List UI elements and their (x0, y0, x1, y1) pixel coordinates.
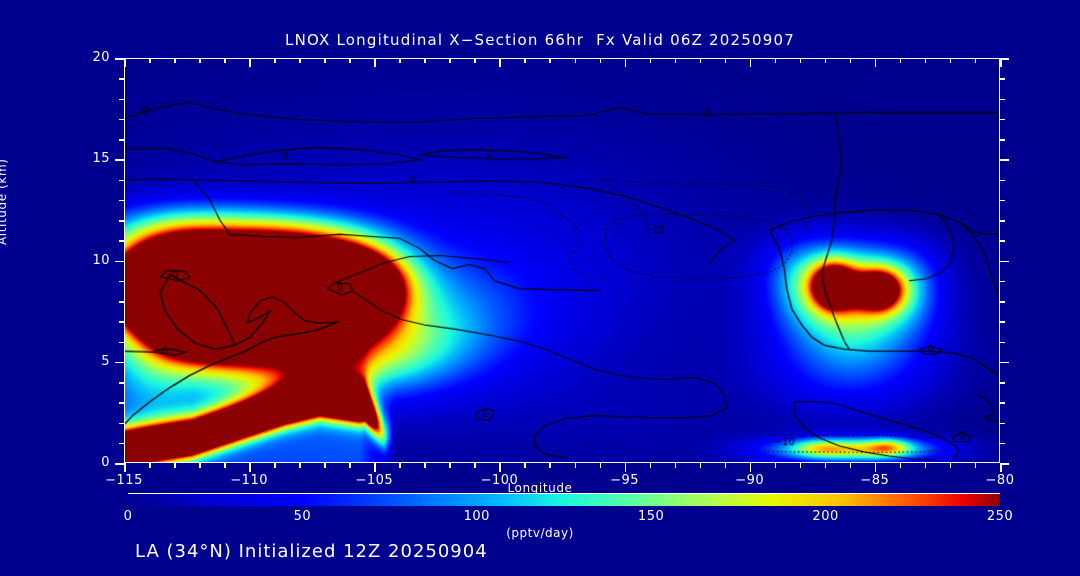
x-top-tick (625, 58, 627, 67)
y-right-tick (1000, 159, 1009, 161)
x-major-tick (499, 463, 501, 472)
y-minor-tick (119, 180, 124, 182)
x-minor-tick (174, 463, 176, 468)
colorbar-tick-label: 50 (262, 509, 342, 524)
y-right-tick (1000, 78, 1005, 80)
x-top-tick (875, 58, 877, 67)
colorbar[interactable] (128, 493, 1000, 506)
x-top-tick (324, 58, 326, 63)
y-right-tick (1000, 362, 1009, 364)
x-top-tick (575, 58, 577, 63)
x-major-tick (875, 463, 877, 472)
x-major-tick (124, 463, 126, 472)
x-top-tick (149, 58, 151, 63)
x-top-tick (224, 58, 226, 63)
colorbar-tick-label: 200 (786, 509, 866, 524)
x-top-tick (349, 58, 351, 63)
x-minor-tick (950, 463, 952, 468)
x-minor-tick (725, 463, 727, 468)
heatmap-canvas (125, 59, 999, 462)
y-right-tick (1000, 220, 1005, 222)
y-minor-tick (119, 240, 124, 242)
y-major-tick (115, 463, 124, 465)
y-minor-tick (119, 382, 124, 384)
y-minor-tick (119, 220, 124, 222)
x-minor-tick (600, 463, 602, 468)
colorbar-tick-label: 100 (437, 509, 517, 524)
y-right-tick (1000, 281, 1005, 283)
y-minor-tick (119, 200, 124, 202)
x-top-tick (174, 58, 176, 63)
x-minor-tick (650, 463, 652, 468)
y-right-tick (1000, 99, 1005, 101)
x-top-tick (499, 58, 501, 67)
x-minor-tick (224, 463, 226, 468)
y-minor-tick (119, 139, 124, 141)
y-right-tick (1000, 443, 1005, 445)
y-right-tick (1000, 402, 1005, 404)
x-top-tick (399, 58, 401, 63)
y-right-tick (1000, 423, 1005, 425)
y-right-tick (1000, 180, 1005, 182)
figure-canvas: LNOX Longitudinal X−Section 66hr Fx Vali… (0, 0, 1080, 576)
x-top-tick (274, 58, 276, 63)
x-top-tick (299, 58, 301, 63)
figure-footer: LA (34°N) Initialized 12Z 20250904 (135, 541, 488, 562)
x-top-tick (524, 58, 526, 63)
x-top-tick (600, 58, 602, 63)
y-minor-tick (119, 119, 124, 121)
x-minor-tick (149, 463, 151, 468)
y-right-tick (1000, 200, 1005, 202)
y-minor-tick (119, 423, 124, 425)
x-minor-tick (900, 463, 902, 468)
y-right-tick (1000, 321, 1005, 323)
x-top-tick (800, 58, 802, 63)
x-top-tick (449, 58, 451, 63)
x-minor-tick (199, 463, 201, 468)
y-right-tick (1000, 301, 1005, 303)
y-tick-label: 15 (70, 151, 110, 166)
x-minor-tick (424, 463, 426, 468)
y-minor-tick (119, 78, 124, 80)
y-major-tick (115, 261, 124, 263)
x-top-tick (474, 58, 476, 63)
x-top-tick (199, 58, 201, 63)
x-minor-tick (474, 463, 476, 468)
x-top-tick (124, 58, 126, 67)
x-top-tick (975, 58, 977, 63)
y-right-tick (1000, 342, 1005, 344)
y-major-tick (115, 159, 124, 161)
x-minor-tick (549, 463, 551, 468)
x-minor-tick (700, 463, 702, 468)
x-top-tick (675, 58, 677, 63)
x-minor-tick (524, 463, 526, 468)
x-minor-tick (675, 463, 677, 468)
y-major-tick (115, 58, 124, 60)
y-axis-title: Altitude (km) (0, 158, 9, 245)
x-minor-tick (925, 463, 927, 468)
plot-area[interactable] (124, 58, 1000, 463)
x-top-tick (850, 58, 852, 63)
colorbar-units-label: (pptv/day) (0, 526, 1080, 540)
colorbar-tick-label: 0 (88, 509, 168, 524)
y-minor-tick (119, 342, 124, 344)
x-minor-tick (324, 463, 326, 468)
y-minor-tick (119, 402, 124, 404)
x-minor-tick (800, 463, 802, 468)
y-tick-label: 0 (70, 455, 110, 470)
y-minor-tick (119, 99, 124, 101)
x-top-tick (374, 58, 376, 67)
y-tick-label: 20 (70, 50, 110, 65)
y-right-tick (1000, 58, 1009, 60)
y-minor-tick (119, 443, 124, 445)
x-minor-tick (775, 463, 777, 468)
x-top-tick (725, 58, 727, 63)
x-top-tick (775, 58, 777, 63)
x-minor-tick (825, 463, 827, 468)
y-minor-tick (119, 321, 124, 323)
x-top-tick (825, 58, 827, 63)
x-minor-tick (299, 463, 301, 468)
y-right-tick (1000, 139, 1005, 141)
y-minor-tick (119, 281, 124, 283)
x-minor-tick (399, 463, 401, 468)
y-tick-label: 10 (70, 253, 110, 268)
x-top-tick (900, 58, 902, 63)
x-major-tick (750, 463, 752, 472)
x-minor-tick (449, 463, 451, 468)
x-top-tick (750, 58, 752, 67)
x-major-tick (249, 463, 251, 472)
x-top-tick (950, 58, 952, 63)
y-right-tick (1000, 261, 1009, 263)
y-right-tick (1000, 463, 1009, 465)
y-tick-label: 5 (70, 354, 110, 369)
x-minor-tick (850, 463, 852, 468)
x-top-tick (700, 58, 702, 63)
x-top-tick (650, 58, 652, 63)
x-top-tick (424, 58, 426, 63)
x-minor-tick (274, 463, 276, 468)
y-right-tick (1000, 119, 1005, 121)
x-major-tick (374, 463, 376, 472)
x-major-tick (625, 463, 627, 472)
y-right-tick (1000, 240, 1005, 242)
x-top-tick (549, 58, 551, 63)
colorbar-tick-label: 150 (611, 509, 691, 524)
colorbar-gradient (128, 493, 1000, 506)
x-top-tick (925, 58, 927, 63)
colorbar-tick-label: 250 (960, 509, 1040, 524)
x-minor-tick (975, 463, 977, 468)
x-minor-tick (575, 463, 577, 468)
figure-title: LNOX Longitudinal X−Section 66hr Fx Vali… (0, 31, 1080, 49)
x-minor-tick (349, 463, 351, 468)
x-top-tick (249, 58, 251, 67)
y-right-tick (1000, 382, 1005, 384)
y-major-tick (115, 362, 124, 364)
y-minor-tick (119, 301, 124, 303)
